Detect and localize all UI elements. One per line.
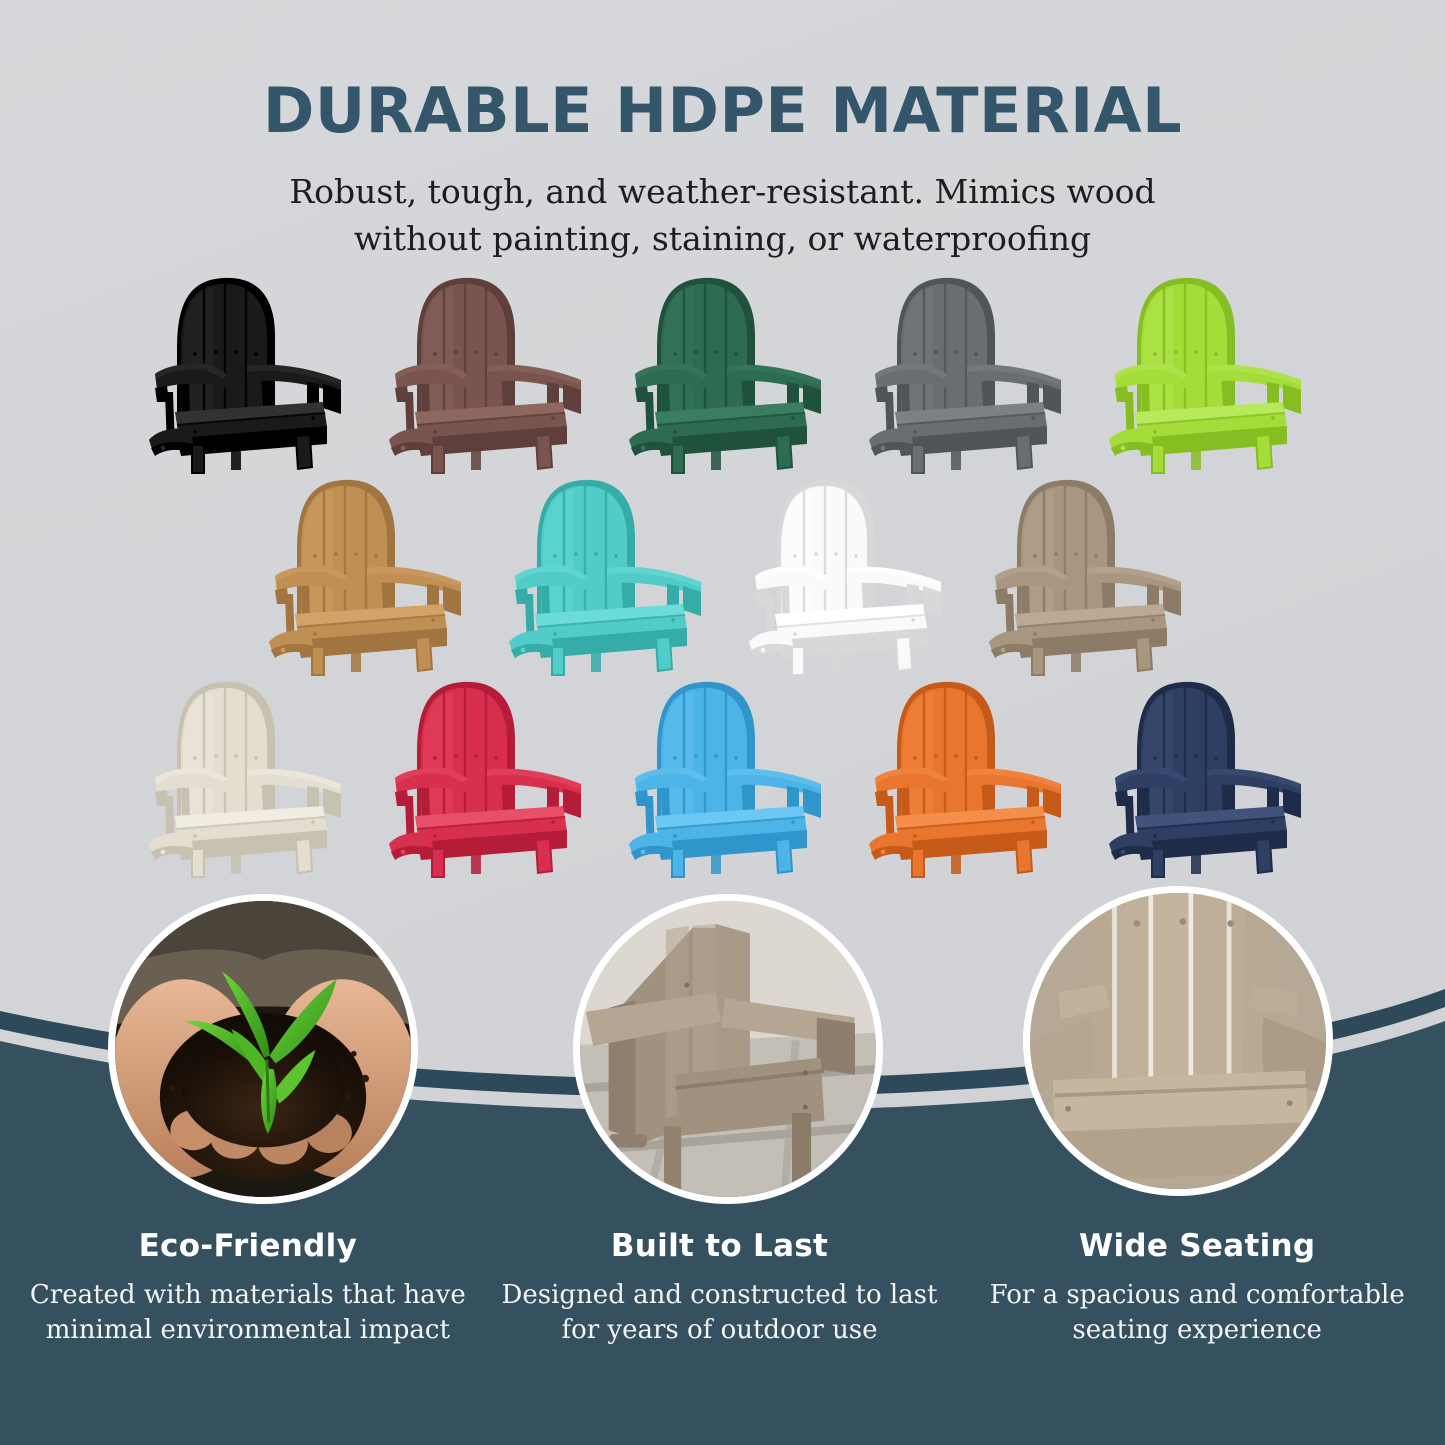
feature-title: Wide Seating bbox=[973, 1228, 1421, 1264]
chair-swatch-weathered-wood[interactable] bbox=[975, 464, 1191, 678]
chair-color-grid bbox=[0, 262, 1445, 880]
chair-swatch-gray[interactable] bbox=[855, 262, 1071, 476]
chair-swatch-light-blue[interactable] bbox=[615, 666, 831, 880]
adirondack-chair-icon bbox=[255, 464, 471, 678]
adirondack-chair-icon bbox=[135, 666, 351, 880]
feature-photo-built-to-last bbox=[573, 894, 883, 1204]
chair-swatch-ivory[interactable] bbox=[135, 666, 351, 880]
chair-swatch-tan[interactable] bbox=[255, 464, 471, 678]
feature-description: Created with materials that have minimal… bbox=[24, 1278, 472, 1348]
header: DURABLE HDPE MATERIAL Robust, tough, and… bbox=[0, 0, 1445, 263]
chair-row-1 bbox=[0, 262, 1445, 476]
feature-photo-wide-seating bbox=[1023, 886, 1333, 1196]
adirondack-chair-icon bbox=[615, 262, 831, 476]
feature-eco-friendly: Eco-Friendly Created with materials that… bbox=[10, 1228, 486, 1348]
adirondack-chair-icon bbox=[735, 464, 951, 678]
feature-photo-eco-friendly bbox=[108, 894, 418, 1204]
page-title: DURABLE HDPE MATERIAL bbox=[0, 78, 1445, 143]
feature-title: Built to Last bbox=[496, 1228, 944, 1264]
feature-description: For a spacious and comfortable seating e… bbox=[973, 1278, 1421, 1348]
adirondack-chair-icon bbox=[495, 464, 711, 678]
chair-swatch-white[interactable] bbox=[735, 464, 951, 678]
feature-captions: Eco-Friendly Created with materials that… bbox=[0, 1228, 1445, 1348]
chair-row-2 bbox=[0, 464, 1445, 678]
adirondack-chair-icon bbox=[855, 262, 1071, 476]
feature-photo-circles bbox=[0, 892, 1445, 1212]
adirondack-chair-icon bbox=[855, 666, 1071, 880]
adirondack-chair-icon bbox=[375, 666, 591, 880]
adirondack-chair-icon bbox=[975, 464, 1191, 678]
adirondack-chair-icon bbox=[1095, 262, 1311, 476]
feature-wide-seating: Wide Seating For a spacious and comforta… bbox=[959, 1228, 1435, 1348]
chair-swatch-dark-green[interactable] bbox=[615, 262, 831, 476]
page-subtitle: Robust, tough, and weather-resistant. Mi… bbox=[0, 169, 1445, 263]
adirondack-chair-icon bbox=[1095, 666, 1311, 880]
infographic-canvas: DURABLE HDPE MATERIAL Robust, tough, and… bbox=[0, 0, 1445, 1445]
adirondack-chair-icon bbox=[375, 262, 591, 476]
chair-swatch-orange[interactable] bbox=[855, 666, 1071, 880]
feature-title: Eco-Friendly bbox=[24, 1228, 472, 1264]
feature-built-to-last: Built to Last Designed and constructed t… bbox=[482, 1228, 958, 1348]
adirondack-chair-icon bbox=[615, 666, 831, 880]
chair-swatch-navy[interactable] bbox=[1095, 666, 1311, 880]
chair-swatch-brown[interactable] bbox=[375, 262, 591, 476]
chair-swatch-lime-green[interactable] bbox=[1095, 262, 1311, 476]
chair-swatch-turquoise[interactable] bbox=[495, 464, 711, 678]
chair-swatch-red[interactable] bbox=[375, 666, 591, 880]
adirondack-chair-icon bbox=[135, 262, 351, 476]
feature-description: Designed and constructed to last for yea… bbox=[496, 1278, 944, 1348]
chair-row-3 bbox=[0, 666, 1445, 880]
chair-swatch-black[interactable] bbox=[135, 262, 351, 476]
